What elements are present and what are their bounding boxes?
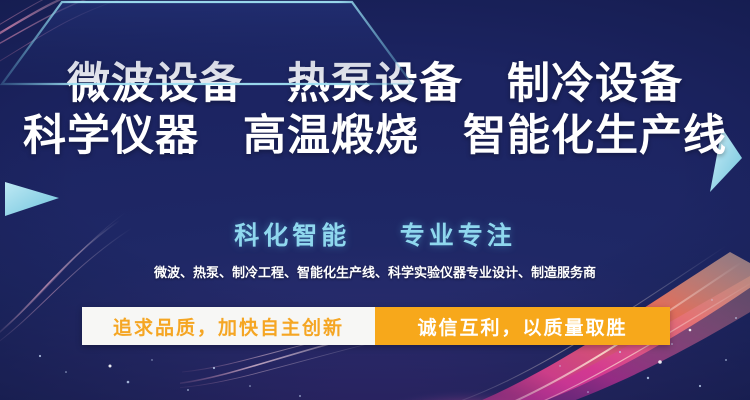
slogan-left: 科化智能 [234,221,350,250]
ribbon-left-text: 追求品质，加快自主创新 [82,307,375,345]
slogan: 科化智能 专业专注 [0,216,750,252]
bottom-ribbon-bar: 追求品质，加快自主创新 诚信互利，以质量取胜 [82,307,670,345]
trapezoid-frame [0,0,414,86]
ribbon-right-text: 诚信互利，以质量取胜 [375,307,670,345]
triangle-right-icon-left [5,178,59,218]
slogan-right: 专业专注 [400,221,516,250]
promo-banner: 微波设备 热泵设备 制冷设备 科学仪器 高温煅烧 智能化生产线 科化智能 专业专… [0,0,750,400]
subline: 微波、热泵、制冷工程、智能化生产线、科学实验仪器专业设计、制造服务商 [0,262,750,281]
headline-line-2: 科学仪器 高温煅烧 智能化生产线 [0,110,750,162]
